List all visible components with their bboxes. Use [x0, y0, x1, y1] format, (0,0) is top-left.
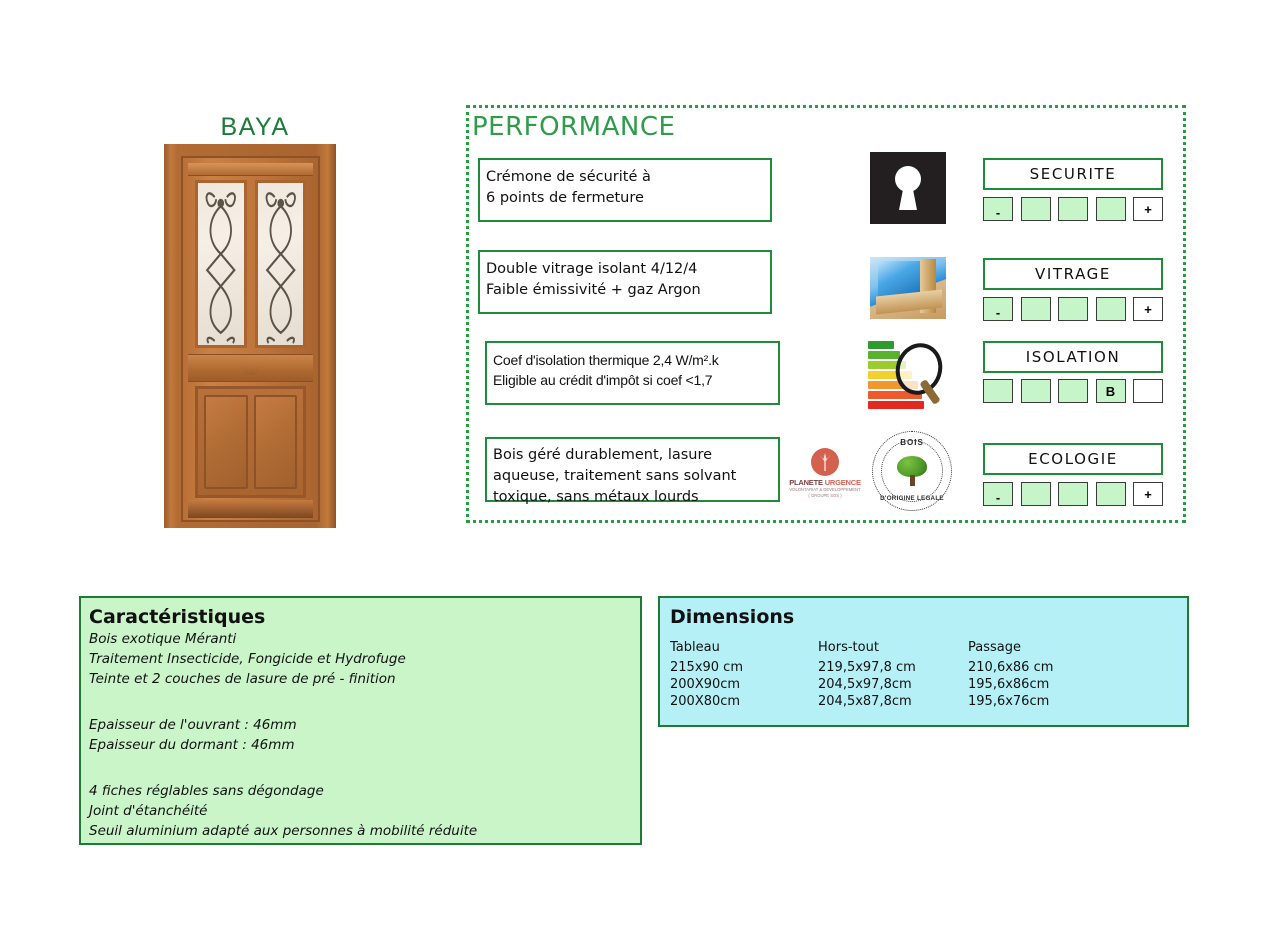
spec-line: Seuil aluminium adapté aux personnes à m…: [89, 822, 640, 842]
spacer: [89, 756, 640, 782]
table-row: 200X90cm 204,5x97,8cm 195,6x86cm: [670, 676, 1118, 693]
rating-cell[interactable]: -: [983, 197, 1013, 221]
bois-logo-bottom-text: D'ORIGINE LEGALE: [873, 495, 951, 502]
rating-cell[interactable]: [1058, 482, 1088, 506]
table-cell: 219,5x97,8 cm: [818, 659, 968, 676]
table-cell: 200X80cm: [670, 693, 818, 710]
table-cell: 195,6x86cm: [968, 676, 1118, 693]
page-title: BAYA: [150, 113, 360, 142]
table-row: 215x90 cm 219,5x97,8 cm 210,6x86 cm: [670, 659, 1118, 676]
rating-cell[interactable]: [1058, 297, 1088, 321]
tree-icon: [897, 456, 927, 486]
rating-cell[interactable]: [1096, 482, 1126, 506]
feature-text-ecology: Bois géré durablement, lasure aqueuse, t…: [485, 437, 780, 502]
rating-row-vitrage: - +: [983, 297, 1163, 321]
table-cell: 200X90cm: [670, 676, 818, 693]
spec-line: Joint d'étanchéité: [89, 802, 640, 822]
dimensions-heading: Dimensions: [670, 606, 1187, 628]
door-lower-panel-right: [254, 395, 298, 489]
rubric-label-isolation: ISOLATION: [983, 341, 1163, 373]
rating-cell[interactable]: [1096, 297, 1126, 321]
planete-urgence-logo: PLANETE URGENCE VOLONTARIAT & DEVELOPPEM…: [786, 448, 864, 496]
table-cell: 195,6x76cm: [968, 693, 1118, 710]
glass-pane-left: [195, 180, 247, 348]
table-row: 200X80cm 204,5x87,8cm 195,6x76cm: [670, 693, 1118, 710]
table-cell: 204,5x87,8cm: [818, 693, 968, 710]
door-lower-panel: [195, 386, 306, 498]
rating-cell[interactable]: -: [983, 297, 1013, 321]
feature-text-insulation: Coef d'isolation thermique 2,4 W/m².k El…: [485, 341, 780, 405]
feature-text-glazing: Double vitrage isolant 4/12/4 Faible émi…: [478, 250, 772, 314]
rating-cell[interactable]: [1058, 197, 1088, 221]
rating-row-securite: - +: [983, 197, 1163, 221]
rubric-label-ecologie: ECOLOGIE: [983, 443, 1163, 475]
planete-urgence-tagline: VOLONTARIAT & DEVELOPPEMENT: [786, 487, 864, 492]
performance-heading: PERFORMANCE: [472, 112, 675, 142]
door-lower-panel-left: [204, 395, 248, 489]
rating-cell[interactable]: +: [1133, 197, 1163, 221]
rating-cell[interactable]: +: [1133, 297, 1163, 321]
spec-line: 4 fiches réglables sans dégondage: [89, 782, 640, 802]
column-header: Passage: [968, 640, 1118, 659]
rating-cell[interactable]: -: [983, 482, 1013, 506]
door-product-image: [164, 144, 336, 528]
window-glazing-icon: [870, 257, 946, 319]
bois-origine-legale-logo: BOIS D'ORIGINE LEGALE: [872, 431, 952, 511]
table-cell: 204,5x97,8cm: [818, 676, 968, 693]
rating-cell[interactable]: [1021, 297, 1051, 321]
rating-cell[interactable]: [1133, 379, 1163, 403]
glass-pane-right: [255, 180, 307, 348]
table-cell: 210,6x86 cm: [968, 659, 1118, 676]
dimensions-panel: Dimensions Tableau Hors-tout Passage 215…: [658, 596, 1189, 727]
rating-cell[interactable]: [1021, 379, 1051, 403]
rating-cell[interactable]: [983, 379, 1013, 403]
table-cell: 215x90 cm: [670, 659, 818, 676]
table-header-row: Tableau Hors-tout Passage: [670, 640, 1118, 659]
planete-urgence-name: PLANETE URGENCE: [786, 478, 864, 487]
door-mid-rail: [188, 354, 313, 382]
product-sheet-page: BAYA: [0, 0, 1269, 951]
door-top-rail: [188, 163, 313, 176]
column-header: Hors-tout: [818, 640, 968, 659]
energy-label-icon: [866, 335, 950, 407]
rubric-label-securite: SECURITE: [983, 158, 1163, 190]
rating-cell[interactable]: [1021, 482, 1051, 506]
rating-row-ecologie: - +: [983, 482, 1163, 506]
feature-text-security: Crémone de sécurité à 6 points de fermet…: [478, 158, 772, 222]
column-header: Tableau: [670, 640, 818, 659]
rating-cell[interactable]: +: [1133, 482, 1163, 506]
caracteristiques-heading: Caractéristiques: [89, 606, 640, 628]
spec-line: Bois exotique Méranti: [89, 630, 640, 650]
spec-line: Traitement Insecticide, Fongicide et Hyd…: [89, 650, 640, 670]
rating-row-isolation: B: [983, 379, 1163, 403]
rating-cell[interactable]: [1058, 379, 1088, 403]
planete-urgence-mark: [811, 448, 839, 476]
planete-urgence-group: ( GROUPE SOS ): [786, 493, 864, 498]
keyhole-icon: [870, 152, 946, 224]
rating-cell[interactable]: [1021, 197, 1051, 221]
rating-cell[interactable]: [1096, 197, 1126, 221]
door-leaf: [181, 156, 320, 522]
rubric-label-vitrage: VITRAGE: [983, 258, 1163, 290]
spec-line: Epaisseur de l'ouvrant : 46mm: [89, 716, 640, 736]
caracteristiques-panel: Caractéristiques Bois exotique Méranti T…: [79, 596, 642, 845]
spacer: [89, 690, 640, 716]
door-bottom-rail: [188, 500, 313, 518]
spec-line: Epaisseur du dormant : 46mm: [89, 736, 640, 756]
dimensions-table: Tableau Hors-tout Passage 215x90 cm 219,…: [670, 640, 1118, 710]
door-glass-area: [195, 180, 306, 348]
spec-line: Teinte et 2 couches de lasure de pré - f…: [89, 670, 640, 690]
bois-logo-top-text: BOIS: [873, 438, 951, 447]
rating-cell[interactable]: B: [1096, 379, 1126, 403]
